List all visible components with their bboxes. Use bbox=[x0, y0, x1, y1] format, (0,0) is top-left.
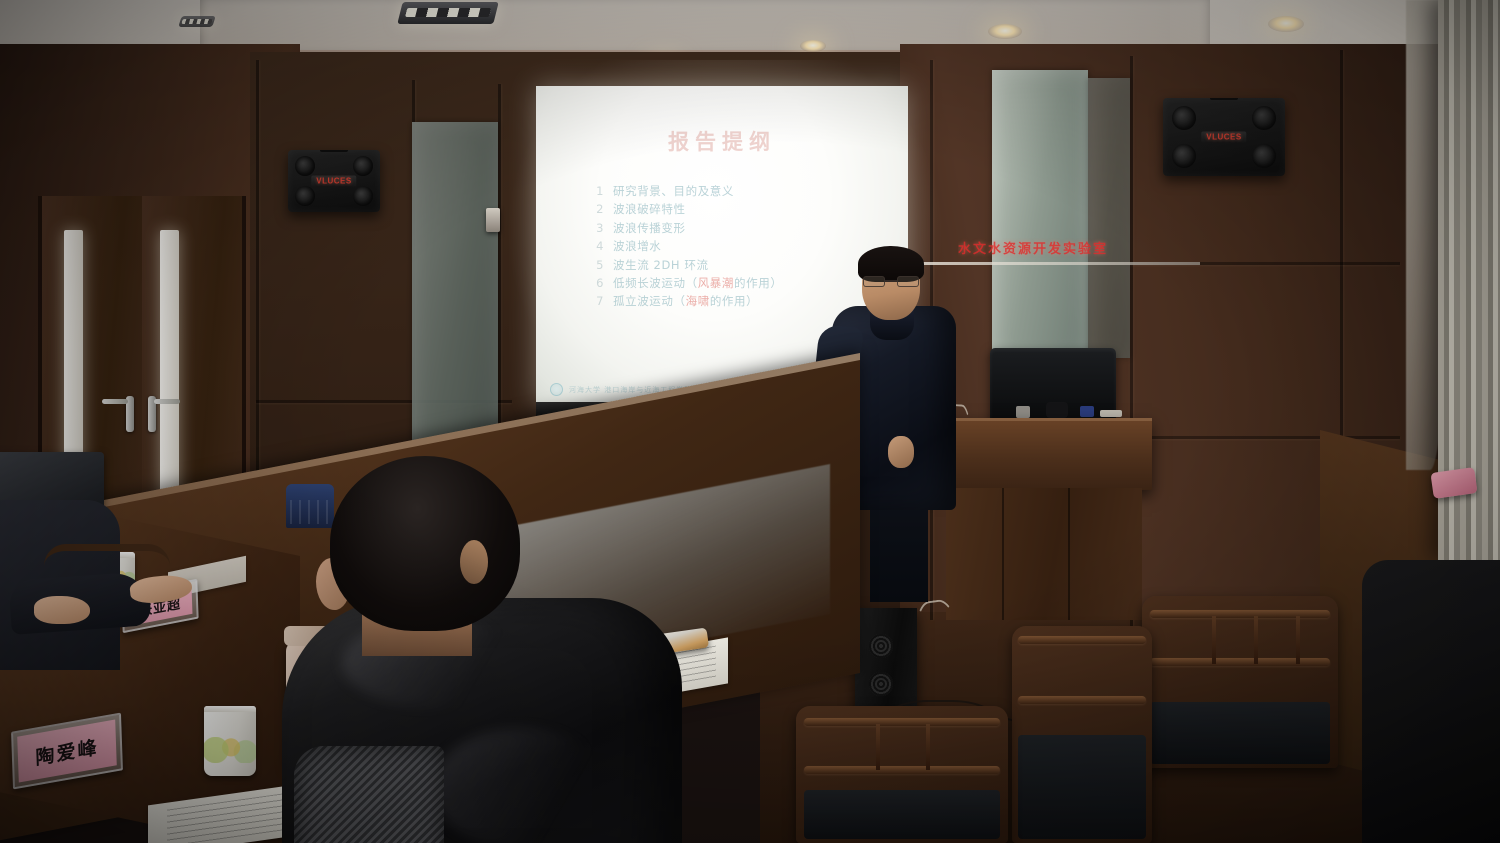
presenter-glasses bbox=[863, 276, 919, 287]
chair-spindle bbox=[1212, 616, 1216, 664]
slide-outline-item: 3波浪传播变形 bbox=[594, 219, 890, 237]
slide-item-number: 6 bbox=[594, 274, 604, 292]
speaker-cone bbox=[1172, 144, 1196, 168]
ceiling-downlight bbox=[988, 24, 1022, 39]
wall-sensor bbox=[486, 208, 500, 232]
wall-speaker-left: VLUCES bbox=[288, 150, 380, 212]
slide-item-number: 4 bbox=[594, 237, 604, 255]
tower-fan-vent bbox=[869, 672, 893, 696]
slide-outline-item: 1研究背景、目的及意义 bbox=[594, 182, 890, 200]
slide-item-text: 低频长波运动（风暴潮的作用） bbox=[613, 274, 782, 292]
chair-back-rail bbox=[44, 544, 170, 566]
chair-spindle bbox=[876, 724, 880, 770]
slide-item-highlight: 海啸 bbox=[686, 294, 710, 308]
glasses-lens bbox=[863, 276, 885, 287]
speaker-cone bbox=[1172, 106, 1196, 130]
slide-item-text: 波浪破碎特性 bbox=[613, 200, 686, 218]
slide-item-number: 1 bbox=[594, 182, 604, 200]
chair-top-rail bbox=[804, 718, 999, 726]
attendee-left-person bbox=[0, 448, 220, 658]
speaker-cone bbox=[295, 156, 315, 176]
chair-seat bbox=[1150, 702, 1330, 764]
glass-wall-panel bbox=[992, 70, 1088, 360]
slide-item-text: 波浪增水 bbox=[613, 237, 661, 255]
glass-wall-panel bbox=[1088, 78, 1130, 358]
attendee-left-hand bbox=[34, 596, 90, 624]
dark-bag bbox=[1362, 560, 1500, 843]
slide-item-text: 孤立波运动（海啸的作用） bbox=[613, 292, 758, 310]
speaker-cone bbox=[1252, 144, 1276, 168]
desk-object-puck bbox=[1046, 402, 1068, 418]
speaker-brand-label: VLUCES bbox=[311, 176, 356, 187]
speaker-mount bbox=[320, 150, 348, 152]
speaker-cone bbox=[295, 186, 315, 206]
slide-item-number: 2 bbox=[594, 200, 604, 218]
chair-mid-rail bbox=[1150, 658, 1330, 666]
speaker-mount bbox=[1210, 98, 1238, 100]
cup-pattern bbox=[204, 737, 256, 764]
conference-room-scene: 水文水资源开发实验室 VLUCES VLUCES 报告提纲 1研究 bbox=[0, 0, 1500, 843]
university-seal-logo bbox=[550, 383, 563, 396]
wooden-chair[interactable] bbox=[796, 706, 1008, 843]
chair-top-rail bbox=[1150, 610, 1330, 618]
placard-card: 陶爱峰 bbox=[17, 720, 117, 783]
lectern-seam bbox=[1068, 488, 1070, 620]
slide-item-highlight: 风暴潮 bbox=[698, 276, 734, 290]
desk-object-blue bbox=[1080, 406, 1094, 417]
ceiling-downlight bbox=[800, 40, 826, 52]
attendee-foreground-ear bbox=[460, 540, 488, 584]
speaker-brand-label: VLUCES bbox=[1201, 132, 1246, 143]
chair-mid-rail bbox=[1018, 696, 1147, 704]
wall-seam bbox=[1340, 50, 1343, 470]
desk-object-strip bbox=[1100, 410, 1122, 417]
attendee-left-hand bbox=[129, 573, 193, 605]
door-handle[interactable] bbox=[126, 396, 134, 432]
tower-fan-vent bbox=[869, 634, 893, 658]
glasses-lens bbox=[897, 276, 919, 287]
chair-seat bbox=[804, 790, 999, 839]
desk-object-cap bbox=[1016, 406, 1030, 418]
ceiling-light-fixture bbox=[397, 2, 498, 24]
mesh-chair-back bbox=[294, 746, 444, 843]
speaker-cone bbox=[353, 156, 373, 176]
ceiling-light-fixture bbox=[178, 16, 216, 27]
slide-item-number: 7 bbox=[594, 292, 604, 310]
slide-title: 报告提纲 bbox=[536, 126, 908, 156]
chair-spindle bbox=[1254, 616, 1258, 664]
paper-cup bbox=[204, 706, 256, 776]
slide-item-number: 5 bbox=[594, 256, 604, 274]
chair-top-rail bbox=[1018, 636, 1147, 644]
jacket-sheen bbox=[432, 728, 612, 843]
wall-seam bbox=[1130, 436, 1400, 439]
slide-item-text: 波生流 2DH 环流 bbox=[613, 256, 709, 274]
speaker-cone bbox=[353, 186, 373, 206]
door-handle[interactable] bbox=[148, 396, 156, 432]
placard-name-text: 陶爱峰 bbox=[35, 732, 99, 770]
slide-item-text: 研究背景、目的及意义 bbox=[613, 182, 734, 200]
attendee-foreground-person bbox=[300, 448, 700, 843]
chair-spindle bbox=[1296, 616, 1300, 664]
glasses-bridge bbox=[885, 280, 897, 282]
chair-mid-rail bbox=[804, 766, 999, 774]
wooden-chair[interactable] bbox=[1142, 596, 1338, 768]
lectern-seam bbox=[1002, 488, 1004, 620]
speaker-cone bbox=[1252, 106, 1276, 130]
slide-item-text: 波浪传播变形 bbox=[613, 219, 686, 237]
slide-outline-item: 2波浪破碎特性 bbox=[594, 200, 890, 218]
lectern-body bbox=[946, 488, 1142, 620]
wall-banner-text: 水文水资源开发实验室 bbox=[958, 238, 1110, 258]
wooden-chair[interactable] bbox=[1012, 626, 1152, 843]
chair-spindle bbox=[926, 724, 930, 770]
ceiling-downlight bbox=[1268, 16, 1304, 32]
chair-seat bbox=[1018, 735, 1147, 839]
presenter-right-hand bbox=[888, 436, 914, 468]
attendee-foreground-head bbox=[330, 456, 520, 631]
wall-speaker-right: VLUCES bbox=[1163, 98, 1285, 176]
slide-item-number: 3 bbox=[594, 219, 604, 237]
